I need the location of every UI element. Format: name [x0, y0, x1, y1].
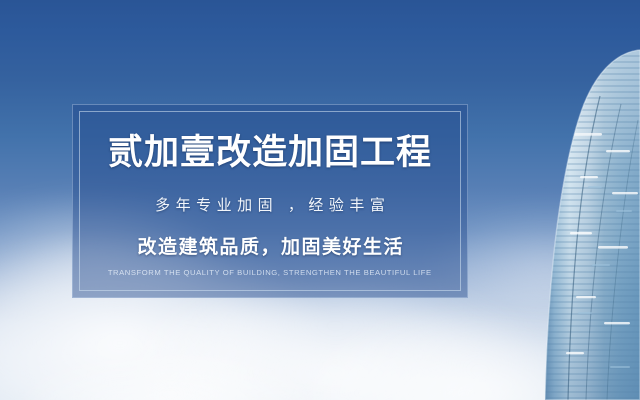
- subtitle-secondary: 改造建筑品质，加固美好生活: [136, 232, 404, 259]
- hero-text-panel: 贰加壹改造加固工程 多年专业加固 ，经验丰富 改造建筑品质，加固美好生活 TRA…: [72, 104, 468, 298]
- subtitle-primary: 多年专业加固 ，经验丰富: [150, 194, 391, 215]
- headline-title: 贰加壹改造加固工程: [108, 134, 432, 172]
- english-tagline: TRANSFORM THE QUALITY OF BUILDING, STREN…: [108, 268, 432, 277]
- skyscraper-building: [480, 0, 640, 400]
- banner-image: 贰加壹改造加固工程 多年专业加固 ，经验丰富 改造建筑品质，加固美好生活 TRA…: [0, 0, 640, 400]
